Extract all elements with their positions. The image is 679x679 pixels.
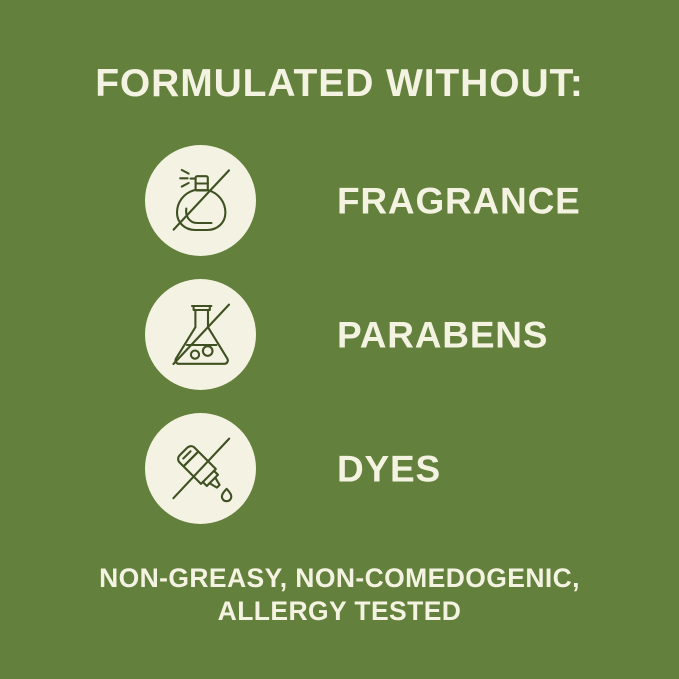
parabens-badge <box>145 279 256 390</box>
list-item-parabens: PARABENS <box>0 279 679 390</box>
footer-line-2: ALLERGY TESTED <box>0 595 679 628</box>
formulated-without-infographic: FORMULATED WITHOUT: <box>0 0 679 679</box>
claim-label-parabens: PARABENS <box>337 316 548 353</box>
list-item-fragrance: FRAGRANCE <box>0 145 679 256</box>
page-title: FORMULATED WITHOUT: <box>0 64 679 103</box>
no-dyes-dropper-icon <box>145 413 256 524</box>
no-parabens-flask-icon <box>145 279 256 390</box>
claim-label-dyes: DYES <box>337 450 441 487</box>
claim-label-fragrance: FRAGRANCE <box>337 182 581 219</box>
no-fragrance-bottle-icon <box>145 145 256 256</box>
claims-list: FRAGRANCE PARA <box>0 145 679 547</box>
footer-line-1: NON-GREASY, NON-COMEDOGENIC, <box>0 562 679 595</box>
list-item-dyes: DYES <box>0 413 679 524</box>
fragrance-badge <box>145 145 256 256</box>
dyes-badge <box>145 413 256 524</box>
footer-claims: NON-GREASY, NON-COMEDOGENIC, ALLERGY TES… <box>0 562 679 627</box>
